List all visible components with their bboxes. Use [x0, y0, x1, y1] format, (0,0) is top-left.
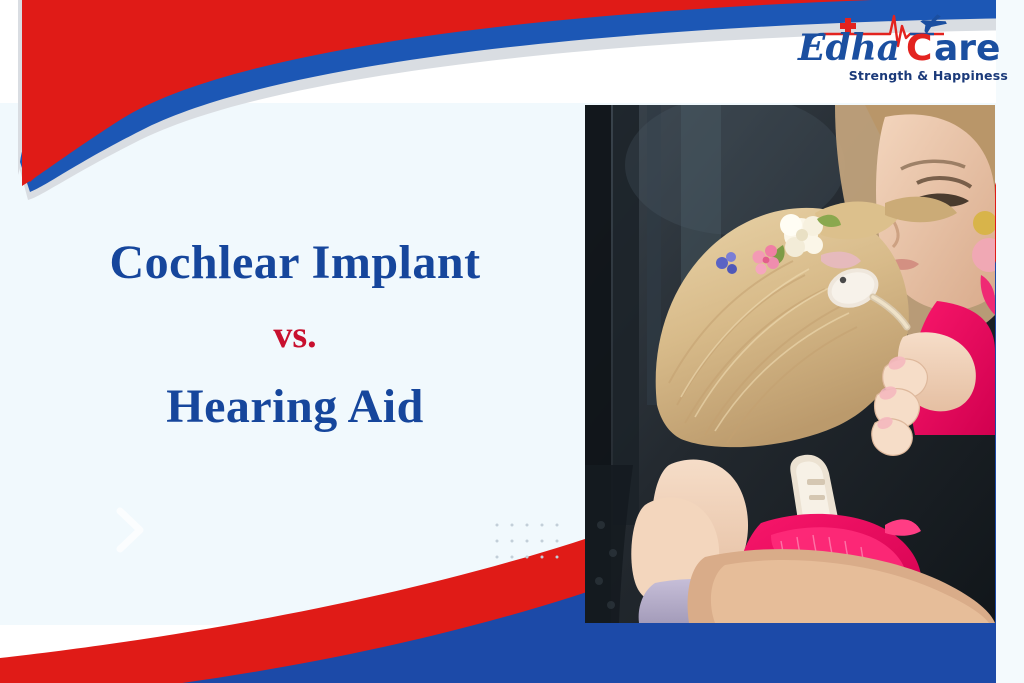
headline-block: Cochlear Implant vs. Hearing Aid — [40, 238, 550, 433]
hero-photo-illustration — [585, 105, 995, 623]
chevron-right-icon — [110, 505, 150, 555]
hero-photo — [585, 105, 995, 623]
logo-text-care-rest: are — [934, 28, 1000, 69]
dot-grid-decoration — [495, 523, 559, 561]
logo-tagline: Strength & Happiness — [849, 68, 1008, 83]
background-panel-footer — [0, 625, 1024, 683]
logo-mark-graphic: Edha C are — [784, 8, 1010, 70]
headline-line-1: Cochlear Implant — [40, 238, 550, 288]
logo-text-edha: Edha — [797, 27, 900, 69]
logo-text-care-c: C — [906, 28, 932, 69]
brand-logo[interactable]: Edha C are Strength & Happiness — [784, 8, 1010, 90]
headline-line-vs: vs. — [40, 316, 550, 354]
promotional-banner: Edha C are Strength & Happiness Cochlear… — [0, 0, 1024, 683]
headline-line-3: Hearing Aid — [40, 382, 550, 432]
